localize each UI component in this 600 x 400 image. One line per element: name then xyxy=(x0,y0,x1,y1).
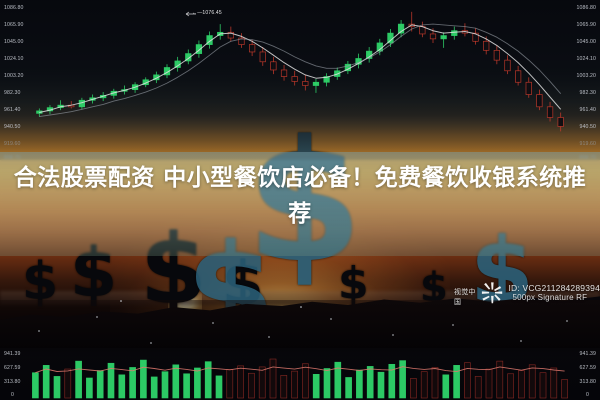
bokeh-speck xyxy=(212,322,214,324)
watermark-license: 500px Signature RF xyxy=(508,293,600,303)
price-axis-tick-left: 1065.90 xyxy=(4,22,23,28)
bokeh-speck xyxy=(150,342,152,344)
price-axis-tick-right: 940.50 xyxy=(580,124,596,130)
volume-axis-tick-right: 0 xyxy=(586,392,589,398)
banner-image: $ $ $ $ $ $ $ $ $ ←—1076.45 1086.80 1065… xyxy=(0,0,600,400)
volume-axis-tick-left: 941.39 xyxy=(4,351,20,357)
volume-chart-canvas xyxy=(0,348,600,400)
price-chart-panel: ←—1076.45 1086.80 1065.90 1045.00 1024.1… xyxy=(0,0,600,160)
bokeh-speck xyxy=(330,318,332,320)
price-axis-tick-left: 940.50 xyxy=(4,124,20,130)
volume-chart-panel: 941.39 627.59 313.80 0 941.39 627.59 313… xyxy=(0,348,600,400)
bokeh-speck xyxy=(120,300,122,302)
price-axis-tick-left: 1086.80 xyxy=(4,5,23,11)
watermark-id: ID: VCG211284289394 xyxy=(508,283,600,293)
price-axis-tick-right: 982.30 xyxy=(580,90,596,96)
bokeh-speck xyxy=(300,306,302,308)
price-axis-tick-right: 1024.10 xyxy=(577,56,596,62)
bokeh-speck xyxy=(268,336,270,338)
price-axis-tick-left: 1024.10 xyxy=(4,56,23,62)
starburst-icon xyxy=(480,281,504,305)
page-title: 合法股票配资 中小型餐饮店必备！免费餐饮收银系统推荐 xyxy=(0,160,600,232)
price-axis-tick-right: 1003.20 xyxy=(577,73,596,79)
price-axis-tick-right: 1086.80 xyxy=(577,5,596,11)
volume-axis-tick-left: 313.80 xyxy=(4,379,20,385)
bokeh-speck xyxy=(38,330,40,332)
price-axis-tick-left: 961.40 xyxy=(4,107,20,113)
price-annotation: ←—1076.45 xyxy=(192,10,222,16)
volume-axis-tick-right: 941.39 xyxy=(580,351,596,357)
price-axis-tick-right: 919.60 xyxy=(580,141,596,147)
bokeh-speck xyxy=(392,334,394,336)
price-axis-tick-left: 919.60 xyxy=(4,141,20,147)
price-axis-tick-right: 1065.90 xyxy=(577,22,596,28)
bokeh-speck xyxy=(566,320,568,322)
bokeh-speck xyxy=(96,316,98,318)
price-axis-tick-left: 982.30 xyxy=(4,90,20,96)
price-axis-tick-right: 961.40 xyxy=(580,107,596,113)
price-chart-canvas xyxy=(0,0,600,160)
watermark: 视觉中国 ID: VCG211284289394 500px Signature… xyxy=(452,281,600,305)
volume-axis-tick-left: 0 xyxy=(11,392,14,398)
volume-axis-tick-right: 313.80 xyxy=(580,379,596,385)
bokeh-speck xyxy=(520,340,522,342)
volume-axis-tick-right: 627.59 xyxy=(580,365,596,371)
volume-axis-tick-left: 627.59 xyxy=(4,365,20,371)
price-axis-tick-left: 1045.00 xyxy=(4,39,23,45)
price-axis-tick-left: 1003.20 xyxy=(4,73,23,79)
watermark-brand-cn: 视觉中国 xyxy=(454,287,478,307)
price-axis-tick-right: 1045.00 xyxy=(577,39,596,45)
watermark-text-block: ID: VCG211284289394 500px Signature RF xyxy=(508,283,600,303)
bokeh-speck xyxy=(452,324,454,326)
